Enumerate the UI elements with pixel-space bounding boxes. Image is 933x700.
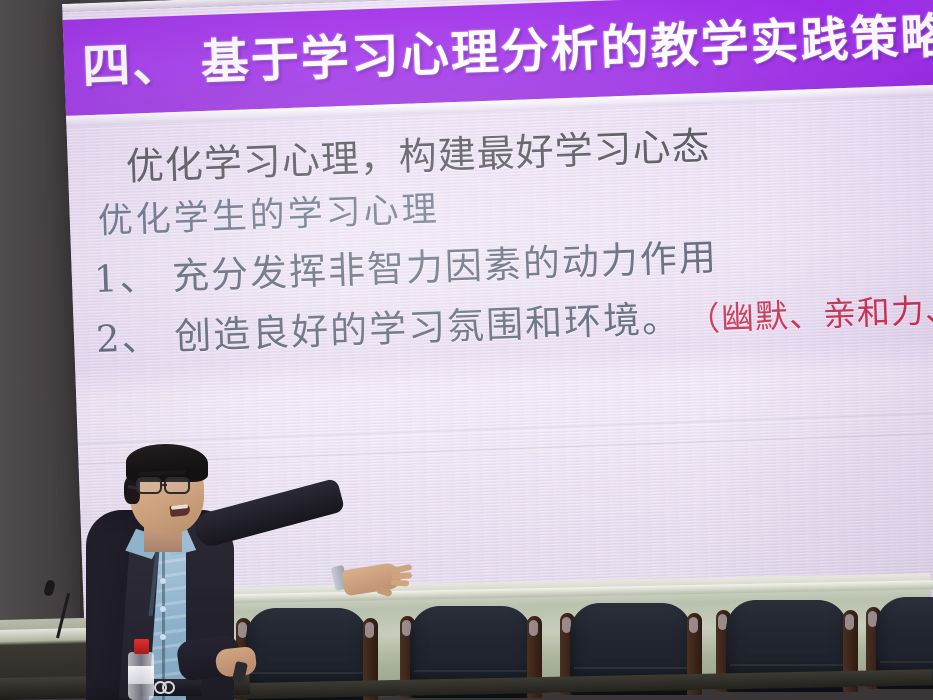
glasses-bridge (161, 484, 167, 487)
chair-arm-highlight (689, 617, 698, 633)
shirt-button (160, 634, 166, 640)
slide-heading: 优化学习心理，构建最好学习心态 (125, 115, 712, 191)
shirt-button (160, 578, 166, 584)
chair-crease (414, 670, 528, 672)
slide-subheading: 优化学生的学习心理 (97, 181, 441, 244)
finger (391, 580, 409, 587)
glasses-lens-right (164, 477, 190, 494)
presenter-pointing-arm (192, 478, 346, 550)
slide-title-text: 四、 基于学习心理分析的教学实践策略 (81, 12, 933, 91)
shirt-placket (162, 550, 165, 700)
chair-crease (730, 664, 844, 666)
shirt-button (160, 606, 166, 612)
water-bottle (128, 638, 154, 700)
belt-buckle (154, 680, 184, 695)
screenshot-canvas: 四、 基于学习心理分析的教学实践策略 优化学习心理，构建最好学习心态 优化学生的… (0, 0, 933, 700)
presenter (58, 435, 388, 700)
presentation-clicker (232, 661, 248, 683)
slide-list-item-2-accent: （幽默、亲和力、激情） (686, 279, 933, 340)
presenter-hair (126, 444, 208, 482)
chair-arm-highlight (529, 620, 538, 636)
chair-crease (880, 661, 933, 663)
chair-crease (574, 667, 688, 669)
bottle-cap (134, 639, 149, 654)
glasses-lens-left (136, 477, 162, 494)
bottle-label (128, 666, 154, 684)
chair-arm-highlight (845, 614, 854, 630)
